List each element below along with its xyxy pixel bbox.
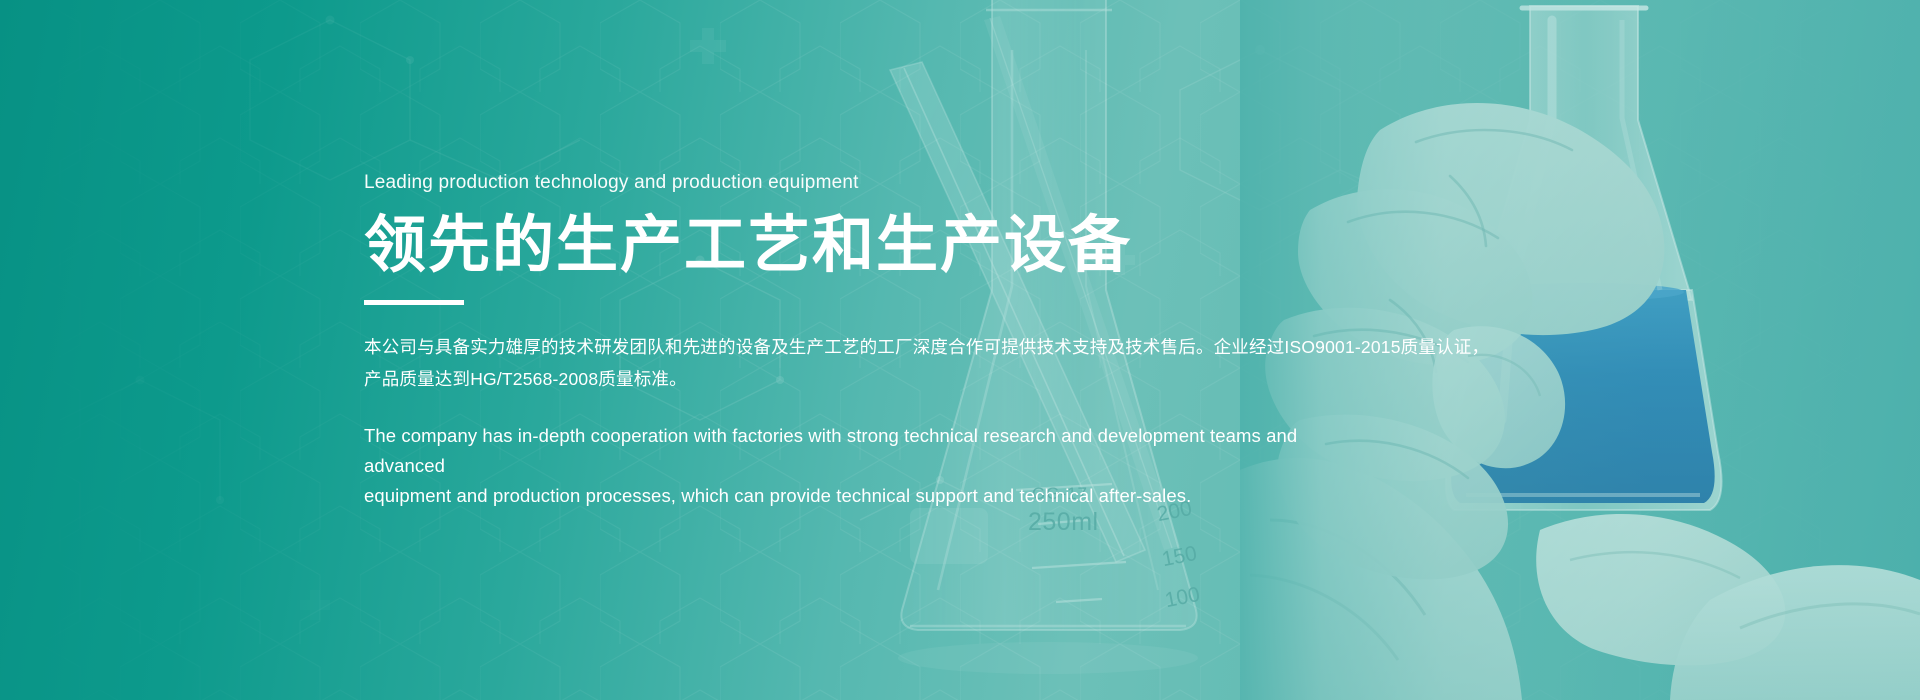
hero-body-chinese-line-1: 本公司与具备实力雄厚的技术研发团队和先进的设备及生产工艺的工厂深度合作可提供技术…: [364, 331, 1394, 363]
hero-eyebrow: Leading production technology and produc…: [364, 170, 1424, 196]
hero-body-chinese: 本公司与具备实力雄厚的技术研发团队和先进的设备及生产工艺的工厂深度合作可提供技术…: [364, 331, 1394, 395]
beaker-graduation-150: 150: [1160, 542, 1199, 572]
hero-body-english-line-2: equipment and production processes, whic…: [364, 481, 1374, 511]
beaker-graduation-100: 100: [1163, 583, 1202, 613]
beaker-volume-label: 250ml: [1028, 508, 1099, 537]
hero-body-english-line-1: The company has in-depth cooperation wit…: [364, 421, 1374, 481]
hero-content: Leading production technology and produc…: [364, 170, 1424, 511]
hero-body-chinese-line-2: 产品质量达到HG/T2568-2008质量标准。: [364, 363, 1394, 395]
hero-body-english: The company has in-depth cooperation wit…: [364, 421, 1374, 511]
hero-divider: [364, 300, 464, 305]
hero-banner: GG-17 250ml 200 150 100: [0, 0, 1920, 700]
hero-headline: 领先的生产工艺和生产设备: [364, 210, 1424, 282]
